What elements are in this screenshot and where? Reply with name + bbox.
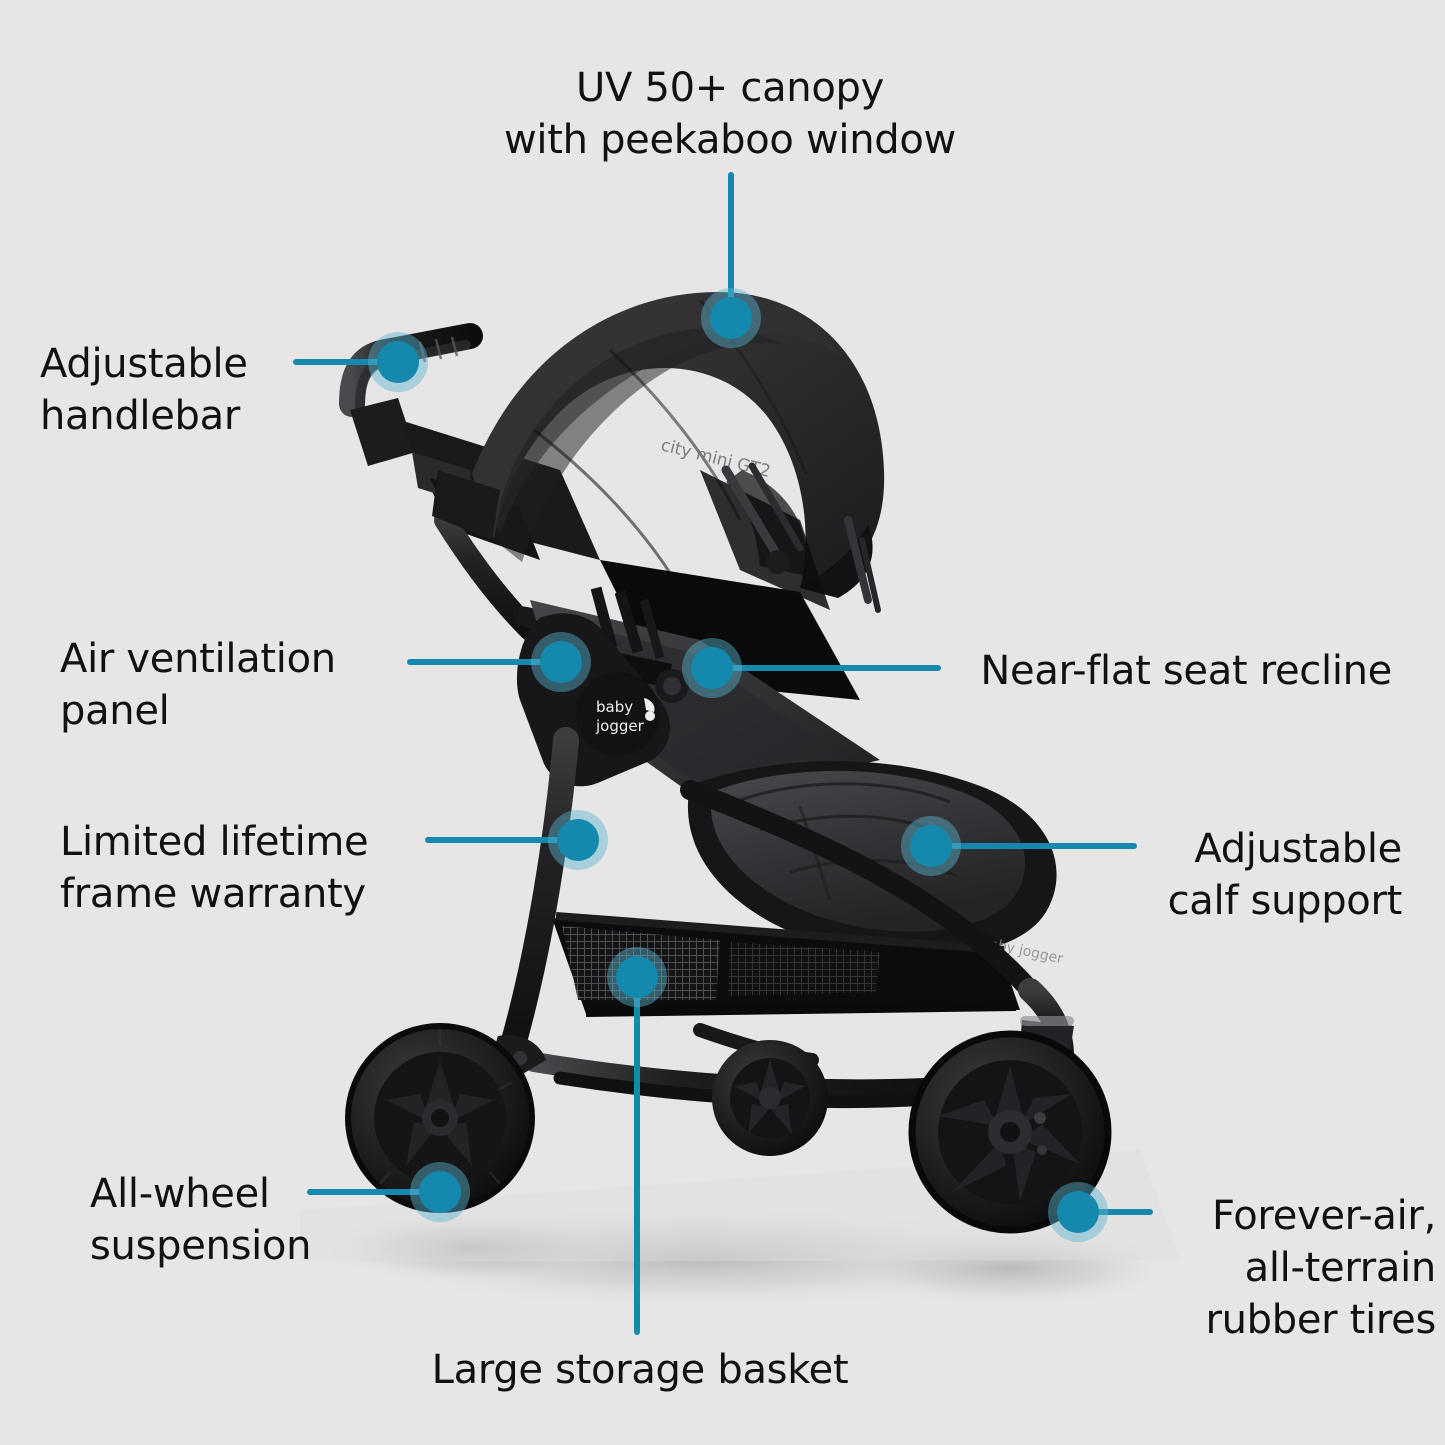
frame-brand-line1: baby (596, 698, 633, 716)
hotspot-air-ventilation-panel (531, 632, 591, 692)
product-feature-diagram: city mini GT2 baby (0, 0, 1445, 1445)
hotspot-all-wheel-suspension (410, 1162, 470, 1222)
stroller-illustration: city mini GT2 baby (0, 0, 1445, 1445)
hotspot-forever-air-tires (1048, 1182, 1108, 1242)
hotspot-adjustable-handlebar (368, 332, 428, 392)
hotspot-large-storage-basket (607, 947, 667, 1007)
hotspot-uv-canopy (701, 288, 761, 348)
mid-wheel-group (712, 1040, 828, 1156)
frame-brand-line2: jogger (595, 717, 645, 735)
canopy-group: city mini GT2 (432, 292, 884, 598)
hotspot-adjustable-calf-support (901, 816, 961, 876)
hotspot-limited-lifetime-frame-warranty (548, 810, 608, 870)
hotspot-near-flat-seat-recline (682, 638, 742, 698)
